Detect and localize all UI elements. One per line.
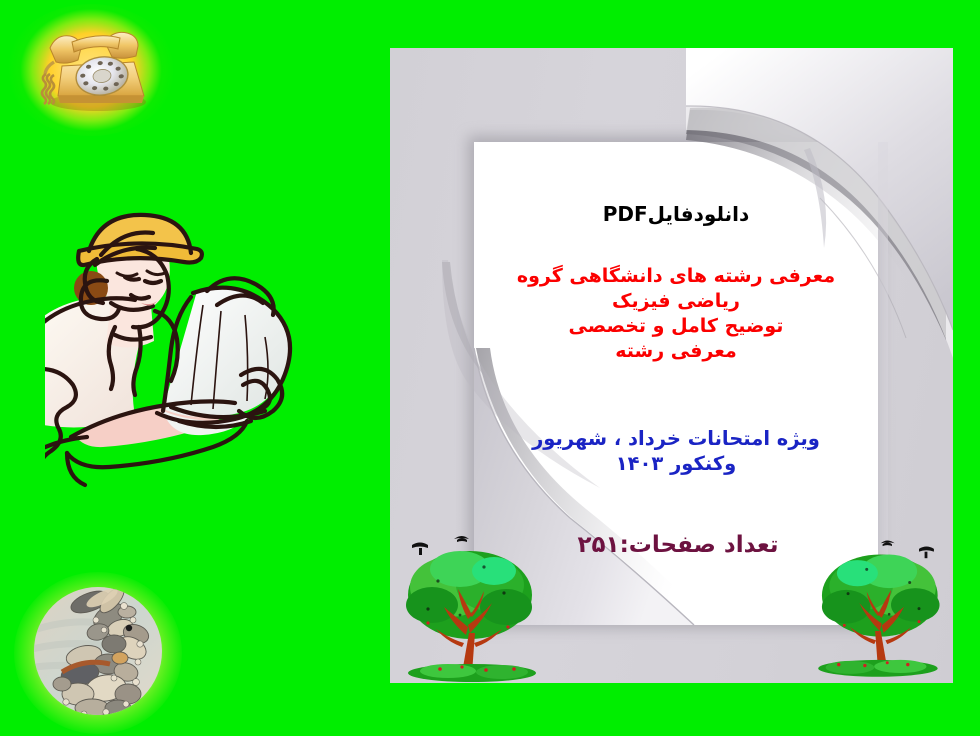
flyer-subtitle: ویژه امتحانات خرداد ، شهریور وکنکور ۱۴۰۳ bbox=[474, 426, 878, 477]
flyer-subtitle-line-1: ویژه امتحانات خرداد ، شهریور bbox=[474, 426, 878, 451]
tree-icon-right bbox=[807, 523, 947, 683]
poster-canvas: دانلودفایلPDF معرفی رشته های دانشگاهی گر… bbox=[0, 0, 980, 736]
flyer-title: معرفی رشته های دانشگاهی گروه ریاضی فیزیک… bbox=[474, 264, 878, 364]
rotary-telephone-icon bbox=[6, 4, 176, 136]
rotary-telephone-badge bbox=[6, 4, 176, 136]
engineer-with-blueprint-illustration bbox=[45, 185, 345, 515]
flyer-title-line-4: معرفی رشته bbox=[474, 339, 878, 364]
pdf-download-heading: دانلودفایلPDF bbox=[474, 202, 878, 226]
flyer-title-line-1: معرفی رشته های دانشگاهی گروه bbox=[474, 264, 878, 289]
flyer-title-line-2: ریاضی فیزیک bbox=[474, 289, 878, 314]
flyer-title-line-3: توضیح کامل و تخصصی bbox=[474, 314, 878, 339]
flyer-subtitle-line-2: وکنکور ۱۴۰۳ bbox=[474, 451, 878, 476]
stone-rabbit-badge bbox=[14, 572, 182, 734]
stone-rabbit-icon bbox=[14, 572, 182, 734]
flyer-panel: دانلودفایلPDF معرفی رشته های دانشگاهی گر… bbox=[390, 48, 953, 683]
tree-icon-left bbox=[398, 523, 548, 683]
